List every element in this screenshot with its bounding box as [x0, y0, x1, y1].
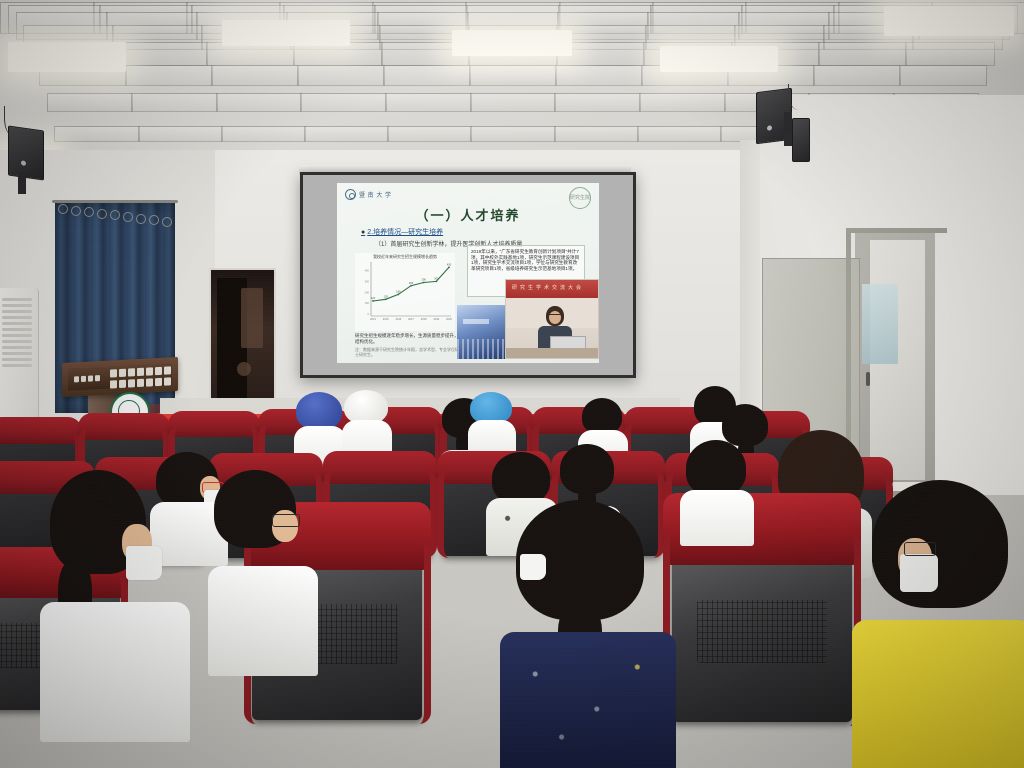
ceiling-light: [884, 6, 1014, 36]
face-mask-icon: [900, 554, 938, 592]
photo-banner-text: 研究生学术交流大会: [512, 284, 584, 291]
lectern-sign-glyph: [146, 367, 153, 375]
lectern-sign-glyph: [119, 380, 126, 388]
photo-red-banner: 研究生学术交流大会: [506, 280, 598, 298]
ceiling-light: [222, 20, 350, 46]
curtain-ring: [136, 214, 146, 224]
lectern-sign: [68, 363, 172, 390]
chart-svg: 0100200300400 12020141352015180201626020…: [355, 260, 455, 326]
slide-title: （一）人才培养: [337, 205, 599, 224]
chart-y-ticks: 0100200300400: [365, 269, 370, 316]
lectern-sign-glyph: [81, 376, 86, 382]
wall-speaker-right-secondary: [792, 118, 810, 162]
ac-vent-slat: [2, 340, 32, 343]
photo-desk: [506, 348, 598, 358]
chart-y-tick: 200: [365, 290, 370, 294]
lectern-sign-glyph: [137, 368, 144, 376]
lecture-hall-screenshot: 暨 南 大 学 研究生院 （一）人才培养 ●2.培养情况—研究生培养 （1）首届…: [0, 0, 1024, 768]
lectern-sign-glyph: [128, 368, 135, 376]
ceiling-tile: [818, 42, 907, 65]
logo-text: 暨 南 大 学: [359, 190, 392, 199]
face-mask-icon: [520, 554, 546, 580]
ceiling-tile: [383, 65, 471, 86]
lectern-sign-glyph: [164, 366, 171, 374]
ceiling-light: [8, 42, 126, 72]
speaker-bracket-left: [18, 172, 26, 194]
chart-point-labels: 1202014135201518020162602017290201830020…: [370, 262, 452, 321]
ceiling-tile: [813, 65, 901, 86]
ac-vent-slat: [2, 364, 32, 367]
lectern-sign-glyph: [164, 377, 171, 385]
chart-y-tick: 300: [365, 279, 370, 283]
ac-vent-slat: [2, 358, 32, 361]
ceiling-tile: [138, 126, 223, 142]
lectern-sign-glyph: [110, 369, 117, 377]
speaker-cable-right: [788, 84, 805, 110]
lectern-sign-glyph: [155, 378, 162, 386]
door-handle[interactable]: [866, 372, 870, 386]
chart-x-tick: 2017: [408, 317, 414, 321]
chart-point: [435, 280, 437, 282]
ac-vent-slat: [2, 316, 32, 319]
ceiling-tile: [639, 93, 726, 112]
chart-point: [385, 298, 387, 300]
doorway-object-round: [237, 362, 251, 376]
lectern-sign-glyph: [95, 375, 100, 381]
lectern-sign-glyph: [119, 369, 126, 377]
speaker-cable-left: [4, 106, 19, 136]
lab-coat: [40, 602, 190, 742]
ceiling-tile: [119, 42, 208, 65]
ceiling-tile: [469, 65, 557, 86]
photo-person-face: [549, 311, 561, 324]
ceiling-tile: [216, 93, 303, 112]
chart-point-label: 260: [409, 281, 414, 285]
hair: [686, 440, 746, 496]
ac-vent-slat: [2, 352, 32, 355]
chart-point-label: 300: [434, 277, 439, 281]
ceiling-tile: [387, 126, 472, 142]
lectern-sign-glyph: [128, 379, 135, 387]
speaker-bracket-right: [784, 112, 792, 146]
chart-x-tick: 2016: [395, 317, 401, 321]
chart-x-tick: 2020: [446, 317, 452, 321]
hair: [872, 480, 1008, 608]
ac-vent-slat: [2, 334, 32, 337]
ceiling-tile: [54, 126, 139, 142]
ceiling-tile: [125, 65, 213, 86]
chart-note-text: 研究生招生规模逐年稳步增长，生源质量稳步提升，结构优化。: [355, 333, 459, 344]
curtain-ring: [149, 215, 159, 225]
face-mask-icon: [126, 546, 162, 580]
chart-point-label: 180: [396, 290, 401, 294]
ceiling-tile: [470, 126, 555, 142]
chart-point: [423, 282, 425, 284]
lectern-sign-glyph: [74, 376, 79, 382]
ceiling-tile: [304, 126, 389, 142]
lab-coat: [208, 566, 318, 676]
ceiling-tile: [47, 93, 134, 112]
ceiling-tile: [899, 65, 987, 86]
lectern-sign-glyph: [146, 378, 153, 386]
blouse: [500, 632, 676, 768]
chart-y-tick: 400: [365, 269, 370, 273]
chart-point: [397, 294, 399, 296]
ac-vent-slat: [2, 346, 32, 349]
slide-chart-note: 研究生招生规模逐年稳步增长，生源质量稳步提升，结构优化。 注：数据来源于研究生院…: [355, 333, 459, 357]
chart-point: [410, 285, 412, 287]
lectern[interactable]: [62, 357, 178, 397]
lectern-sign-glyph: [137, 379, 144, 387]
ceiling-tile: [297, 65, 385, 86]
curtain-ring: [84, 207, 94, 217]
ac-vent-slat: [2, 298, 32, 301]
surgical-cap-icon: [296, 392, 342, 430]
surgical-cap-icon: [344, 390, 388, 424]
presentation-slide: 暨 南 大 学 研究生院 （一）人才培养 ●2.培养情况—研究生培养 （1）首届…: [337, 183, 599, 363]
bullet-marker: ●: [361, 229, 365, 236]
photo-person-glasses-icon: [549, 314, 561, 317]
hair: [582, 398, 622, 434]
ceiling-tile: [385, 93, 472, 112]
hair: [492, 452, 550, 504]
eyeglasses-icon: [272, 514, 300, 527]
logo-ring-icon: [345, 189, 356, 200]
slide-bullet-text: 2.培养情况—研究生培养: [367, 229, 443, 236]
chart-x-tick: 2019: [433, 317, 439, 321]
ceiling-tile: [555, 65, 643, 86]
ceiling-tile: [470, 93, 557, 112]
curtain-ring: [123, 212, 133, 222]
ac-vent-slat: [2, 310, 32, 313]
slide-photo-speaker: 研究生学术交流大会: [505, 279, 599, 359]
lectern-sign-glyph: [155, 367, 162, 375]
ac-vent-slat: [2, 328, 32, 331]
chart-y-tick: 0: [368, 312, 370, 316]
chart-x-tick: 2018: [421, 317, 427, 321]
ceiling-tile: [211, 65, 299, 86]
curtain-ring: [162, 217, 172, 227]
lectern-sign-glyph: [88, 375, 93, 381]
chart-note-small: 注：数据来源于研究生院统计年报，含学术型、专业学位硕士研究生。: [355, 347, 459, 357]
curtain-ring: [110, 210, 120, 220]
slide-chart: 我校近年来研究生招生规模增长趋势 0100200300400 120201413…: [355, 253, 455, 331]
projection-screen[interactable]: 暨 南 大 学 研究生院 （一）人才培养 ●2.培养情况—研究生培养 （1）首届…: [300, 172, 636, 378]
ceiling-light: [452, 30, 572, 56]
chart-x-tick: 2015: [383, 317, 389, 321]
ac-vent-slat: [2, 304, 32, 307]
ceiling-tile: [554, 93, 641, 112]
ceiling-light: [660, 46, 778, 72]
shirt: [852, 620, 1024, 768]
ac-vent-slat: [2, 322, 32, 325]
ceiling-tile: [637, 126, 722, 142]
ceiling-tile: [131, 93, 218, 112]
chart-point: [372, 300, 374, 302]
chart-point: [448, 266, 450, 268]
ceiling-tile: [905, 42, 994, 65]
door-frame: [846, 228, 947, 496]
curtain-ring: [71, 206, 81, 216]
ceiling-tile: [300, 93, 387, 112]
slide-bullet: ●2.培养情况—研究生培养: [361, 227, 443, 237]
eyeglasses-icon: [904, 542, 936, 556]
chart-point-label: 120: [371, 296, 376, 300]
chart-point-label: 135: [384, 295, 389, 299]
ceiling-tile: [221, 126, 306, 142]
lectern-sign-glyph: [110, 380, 117, 388]
university-logo: 暨 南 大 学: [345, 189, 399, 201]
chart-point-label: 430: [447, 262, 452, 266]
photo-banner-left: [463, 319, 489, 324]
ceiling-tile: [554, 126, 639, 142]
chart-point-label: 290: [422, 278, 427, 282]
chart-x-tick: 2014: [370, 317, 376, 321]
curtain-ring: [58, 204, 68, 214]
curtain-ring: [97, 209, 107, 219]
chart-y-tick: 100: [365, 301, 370, 305]
lab-coat: [680, 490, 754, 546]
doorway-object: [241, 288, 263, 348]
